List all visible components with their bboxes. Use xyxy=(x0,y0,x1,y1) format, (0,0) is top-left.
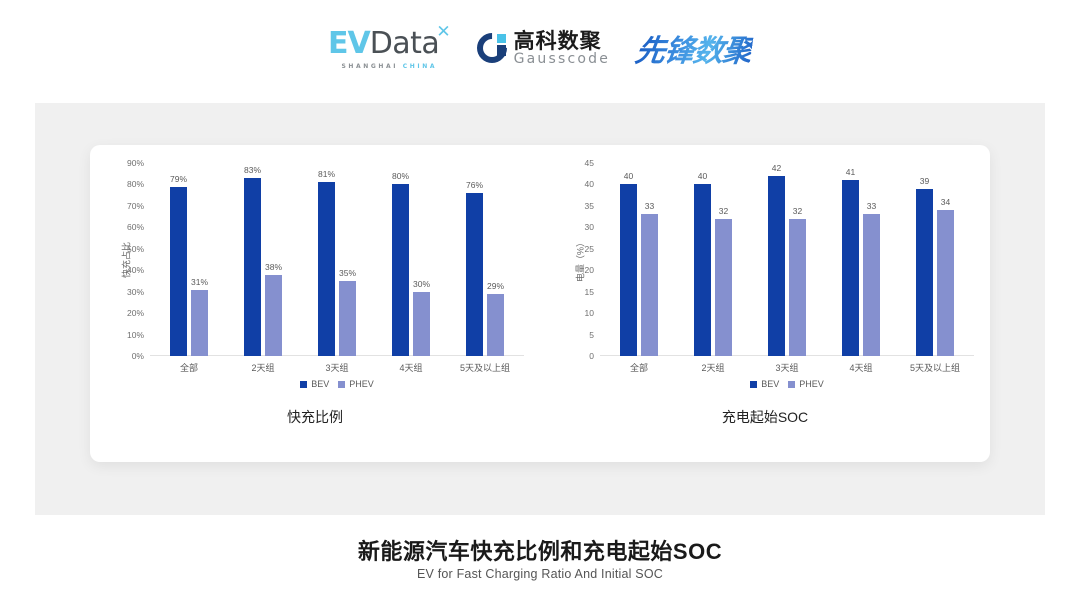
y-axis-tick-label: 60% xyxy=(127,222,144,232)
x-axis-tick-label: 5天及以上组 xyxy=(448,361,522,374)
y-axis-tick-label: 15 xyxy=(585,287,594,297)
bar-groups: 40334032423241333934 xyxy=(602,163,972,356)
bar-group: 80%30% xyxy=(374,163,448,356)
charts-card: 快充占比90%80%70%60%50%40%30%20%10%0%79%31%8… xyxy=(90,145,990,462)
bar-phev[interactable]: 32 xyxy=(715,219,732,356)
y-axis-tick-label: 90% xyxy=(127,158,144,168)
bar-value-label: 83% xyxy=(244,165,261,175)
bar-value-label: 40 xyxy=(698,171,707,181)
legend-label: PHEV xyxy=(349,379,374,389)
bar-group: 81%35% xyxy=(300,163,374,356)
bar-group: 3934 xyxy=(898,163,972,356)
bar-phev[interactable]: 33 xyxy=(863,214,880,356)
y-axis-tick-label: 70% xyxy=(127,201,144,211)
gausscode-en-text: Gausscode xyxy=(514,52,610,66)
bar-bev[interactable]: 79% xyxy=(170,187,187,356)
bar-phev[interactable]: 33 xyxy=(641,214,658,356)
bar-bev[interactable]: 40 xyxy=(694,184,711,356)
bar-phev[interactable]: 29% xyxy=(487,294,504,356)
xianfeng-logo: 先锋数聚 xyxy=(633,26,755,70)
bar-value-label: 30% xyxy=(413,279,430,289)
evdata-logo: EV Data ✕ SHANGHAI CHINA xyxy=(328,26,451,70)
evdata-wordmark: EV Data ✕ xyxy=(328,26,451,61)
x-axis-labels: 全部2天组3天组4天组5天及以上组 xyxy=(602,361,972,374)
bar-pair: 79%31% xyxy=(152,163,226,356)
gausscode-mark-icon xyxy=(477,33,507,63)
bar-value-label: 42 xyxy=(772,163,781,173)
gausscode-cn-text: 高科数聚 xyxy=(514,31,610,52)
legend-label: BEV xyxy=(311,379,329,389)
y-axis-tick-label: 0 xyxy=(589,351,594,361)
plot-area: 电量（%）45403530252015105040334032423241333… xyxy=(602,163,972,356)
bar-pair: 4032 xyxy=(676,163,750,356)
bar-value-label: 33 xyxy=(867,201,876,211)
charts-row: 快充占比90%80%70%60%50%40%30%20%10%0%79%31%8… xyxy=(90,145,990,462)
bar-bev[interactable]: 81% xyxy=(318,182,335,356)
y-axis-tick-label: 80% xyxy=(127,179,144,189)
bar-pair: 83%38% xyxy=(226,163,300,356)
bar-phev[interactable]: 38% xyxy=(265,275,282,356)
bar-group: 76%29% xyxy=(448,163,522,356)
chart-legend: BEVPHEV xyxy=(602,379,972,389)
chart-legend: BEVPHEV xyxy=(152,379,522,389)
y-axis-tick-label: 30% xyxy=(127,287,144,297)
x-axis-tick-label: 2天组 xyxy=(676,361,750,374)
bar-value-label: 76% xyxy=(466,180,483,190)
y-axis-tick-label: 30 xyxy=(585,222,594,232)
bar-value-label: 33 xyxy=(645,201,654,211)
bar-group: 4232 xyxy=(750,163,824,356)
bar-bev[interactable]: 42 xyxy=(768,176,785,356)
x-axis-tick-label: 5天及以上组 xyxy=(898,361,972,374)
evdata-data-text: Data xyxy=(370,26,440,61)
bar-pair: 3934 xyxy=(898,163,972,356)
legend-label: PHEV xyxy=(799,379,824,389)
page-subtitle: EV for Fast Charging Ratio And Initial S… xyxy=(0,567,1080,581)
y-axis-tick-label: 40 xyxy=(585,179,594,189)
bar-value-label: 32 xyxy=(793,206,802,216)
bar-group: 4033 xyxy=(602,163,676,356)
bar-value-label: 81% xyxy=(318,169,335,179)
y-axis-ticks: 454035302520151050 xyxy=(560,163,598,356)
y-axis-tick-label: 40% xyxy=(127,265,144,275)
y-axis-tick-label: 25 xyxy=(585,244,594,254)
bar-pair: 4133 xyxy=(824,163,898,356)
bar-bev[interactable]: 76% xyxy=(466,193,483,356)
bar-bev[interactable]: 39 xyxy=(916,189,933,356)
x-axis-tick-label: 3天组 xyxy=(300,361,374,374)
bar-value-label: 29% xyxy=(487,281,504,291)
y-axis-tick-label: 10 xyxy=(585,308,594,318)
bar-value-label: 34 xyxy=(941,197,950,207)
bar-value-label: 40 xyxy=(624,171,633,181)
x-axis-tick-label: 4天组 xyxy=(374,361,448,374)
legend-swatch-icon xyxy=(300,381,307,388)
bar-value-label: 41 xyxy=(846,167,855,177)
evdata-city-text: SHANGHAI xyxy=(341,63,398,70)
x-axis-tick-label: 4天组 xyxy=(824,361,898,374)
x-axis-labels: 全部2天组3天组4天组5天及以上组 xyxy=(152,361,522,374)
x-axis-tick-label: 2天组 xyxy=(226,361,300,374)
bar-value-label: 79% xyxy=(170,174,187,184)
evdata-country-text: CHINA xyxy=(403,63,437,70)
legend-item-phev[interactable]: PHEV xyxy=(338,379,374,389)
bar-phev[interactable]: 31% xyxy=(191,290,208,356)
bar-group: 4032 xyxy=(676,163,750,356)
bar-value-label: 31% xyxy=(191,277,208,287)
chart-initial-soc: 电量（%）45403530252015105040334032423241333… xyxy=(540,145,990,462)
bar-phev[interactable]: 35% xyxy=(339,281,356,356)
bar-bev[interactable]: 40 xyxy=(620,184,637,356)
gausscode-wordmark: 高科数聚 Gausscode xyxy=(514,31,610,66)
bar-phev[interactable]: 34 xyxy=(937,210,954,356)
plot-area: 快充占比90%80%70%60%50%40%30%20%10%0%79%31%8… xyxy=(152,163,522,356)
chart-title: 充电起始SOC xyxy=(540,407,990,427)
y-axis-tick-label: 50% xyxy=(127,244,144,254)
legend-label: BEV xyxy=(761,379,779,389)
y-axis-tick-label: 5 xyxy=(589,330,594,340)
evdata-x-icon: ✕ xyxy=(436,22,450,42)
bar-bev[interactable]: 41 xyxy=(842,180,859,356)
gausscode-logo: 高科数聚 Gausscode xyxy=(477,31,610,66)
y-axis-tick-label: 35 xyxy=(585,201,594,211)
legend-swatch-icon xyxy=(338,381,345,388)
legend-item-phev[interactable]: PHEV xyxy=(788,379,824,389)
y-axis-tick-label: 20% xyxy=(127,308,144,318)
x-axis-tick-label: 全部 xyxy=(152,361,226,374)
slide-page: EV Data ✕ SHANGHAI CHINA 高科数聚 Gausscode … xyxy=(0,0,1080,608)
bar-group: 83%38% xyxy=(226,163,300,356)
bar-group: 79%31% xyxy=(152,163,226,356)
evdata-tagline: SHANGHAI CHINA xyxy=(341,63,437,70)
x-axis-tick-label: 3天组 xyxy=(750,361,824,374)
bar-groups: 79%31%83%38%81%35%80%30%76%29% xyxy=(152,163,522,356)
bar-pair: 76%29% xyxy=(448,163,522,356)
bar-pair: 4232 xyxy=(750,163,824,356)
bar-value-label: 35% xyxy=(339,268,356,278)
y-axis-tick-label: 10% xyxy=(127,330,144,340)
legend-item-bev[interactable]: BEV xyxy=(300,379,329,389)
chart-fast-charging-ratio: 快充占比90%80%70%60%50%40%30%20%10%0%79%31%8… xyxy=(90,145,540,462)
chart-title: 快充比例 xyxy=(90,407,540,427)
bar-value-label: 80% xyxy=(392,171,409,181)
bar-phev[interactable]: 30% xyxy=(413,292,430,356)
bar-value-label: 38% xyxy=(265,262,282,272)
bar-pair: 80%30% xyxy=(374,163,448,356)
bar-group: 4133 xyxy=(824,163,898,356)
legend-swatch-icon xyxy=(750,381,757,388)
legend-swatch-icon xyxy=(788,381,795,388)
y-axis-tick-label: 45 xyxy=(585,158,594,168)
bar-pair: 81%35% xyxy=(300,163,374,356)
bar-pair: 4033 xyxy=(602,163,676,356)
evdata-ev-text: EV xyxy=(328,26,370,61)
legend-item-bev[interactable]: BEV xyxy=(750,379,779,389)
x-axis-tick-label: 全部 xyxy=(602,361,676,374)
bar-bev[interactable]: 83% xyxy=(244,178,261,356)
y-axis-tick-label: 20 xyxy=(585,265,594,275)
bar-bev[interactable]: 80% xyxy=(392,184,409,356)
bar-value-label: 32 xyxy=(719,206,728,216)
logo-bar: EV Data ✕ SHANGHAI CHINA 高科数聚 Gausscode … xyxy=(0,18,1080,78)
bar-phev[interactable]: 32 xyxy=(789,219,806,356)
bar-value-label: 39 xyxy=(920,176,929,186)
y-axis-tick-label: 0% xyxy=(132,351,144,361)
page-title: 新能源汽车快充比例和充电起始SOC xyxy=(0,534,1080,566)
y-axis-ticks: 90%80%70%60%50%40%30%20%10%0% xyxy=(110,163,148,356)
